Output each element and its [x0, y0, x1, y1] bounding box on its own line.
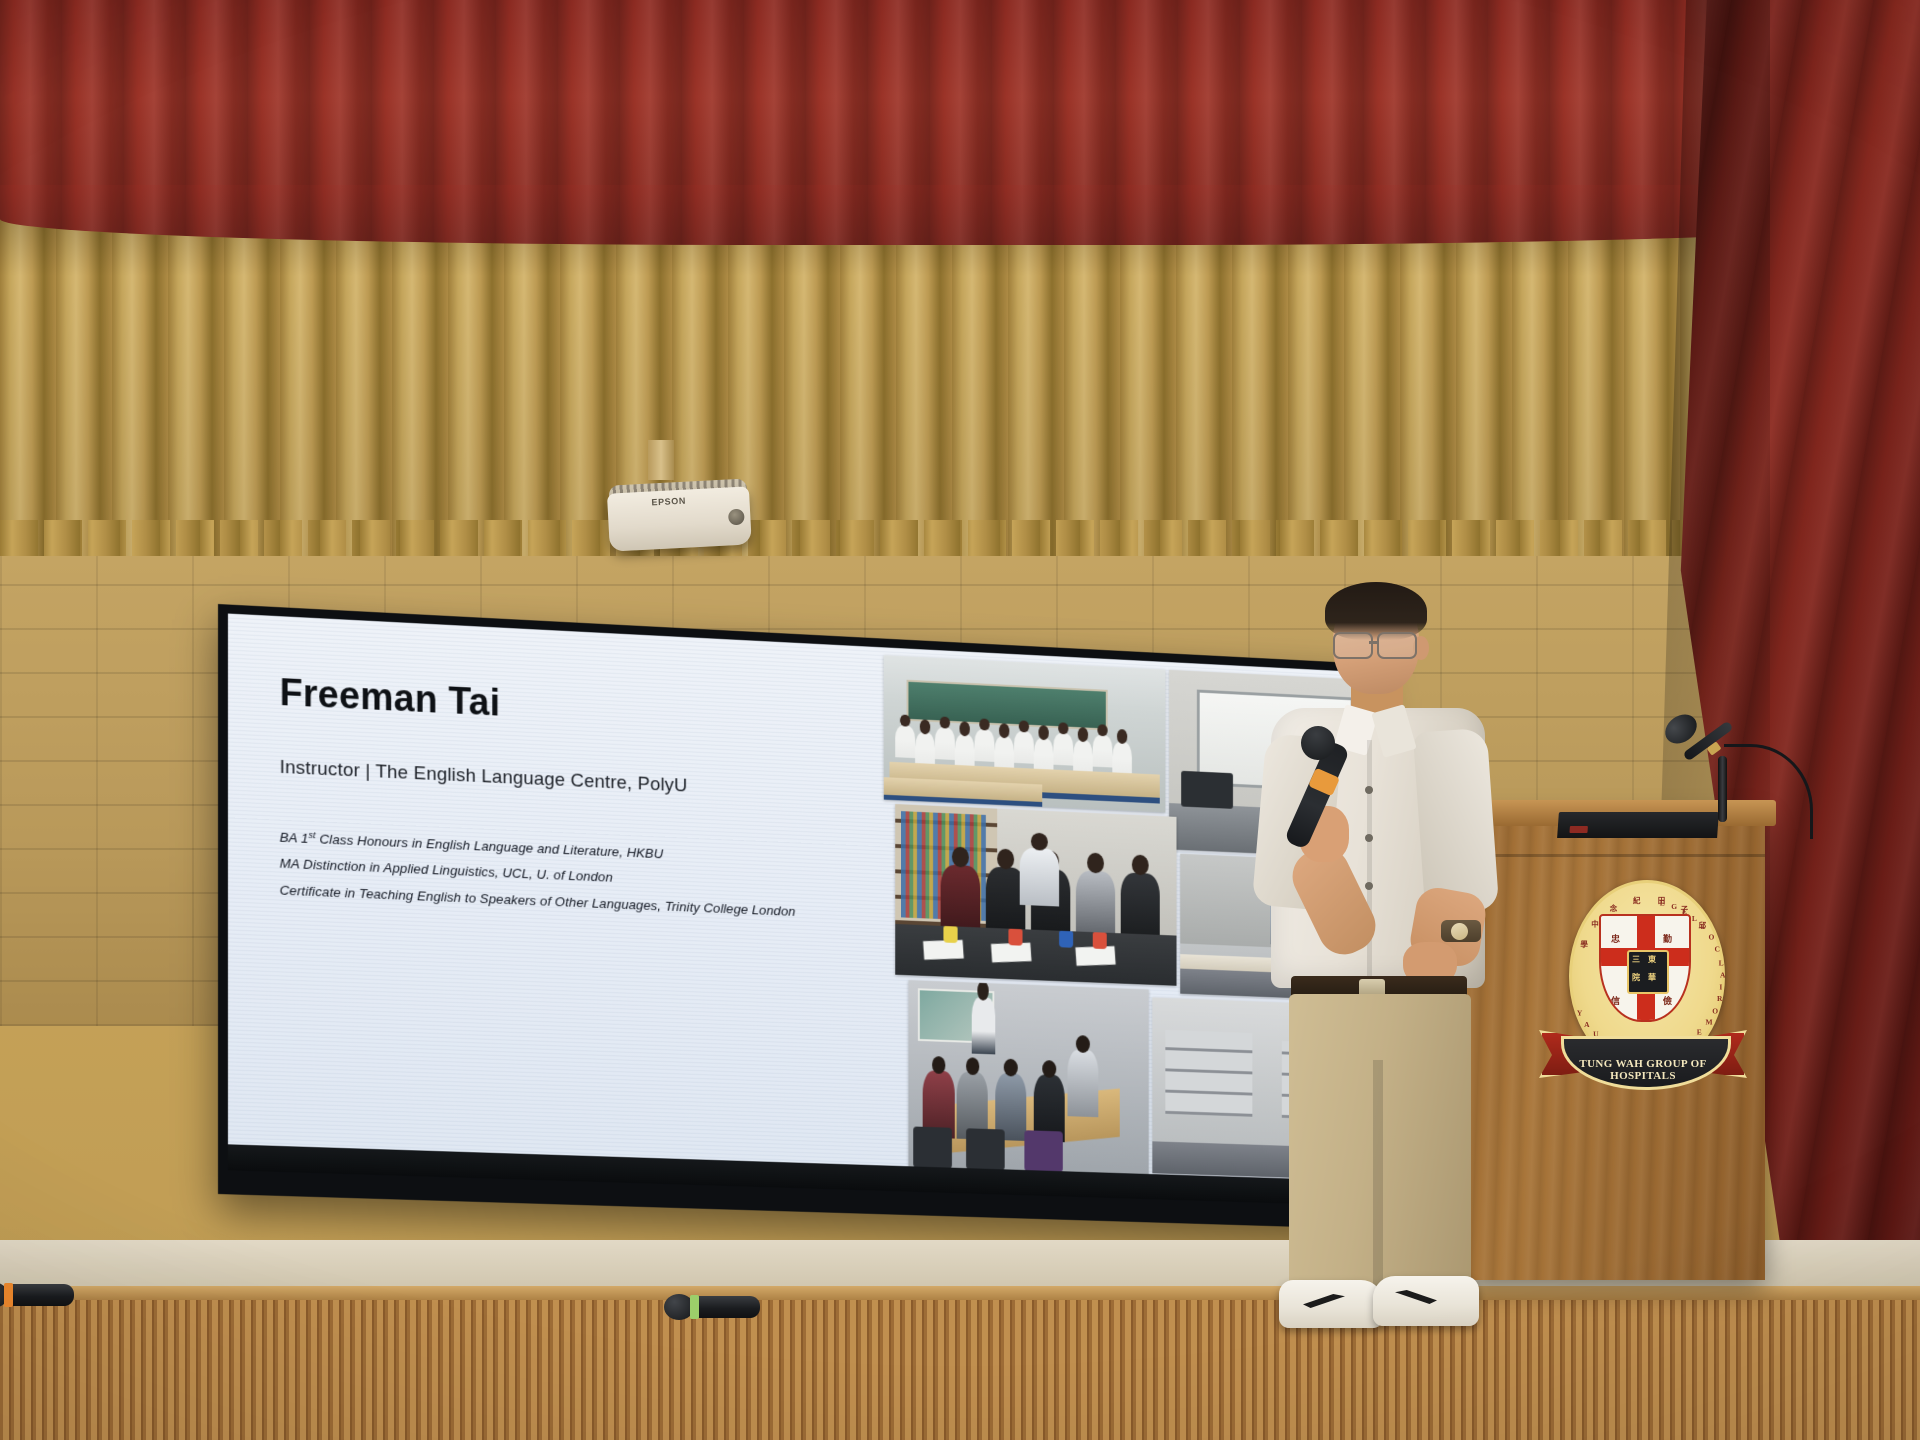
- microphone-color-band: [690, 1295, 699, 1319]
- college-crest: 學 中 念 紀 田 子 邱 Y A U T Z E T I N M E M O …: [1543, 880, 1743, 1130]
- student-figure: [935, 727, 955, 760]
- crest-char-qin: 勤: [1663, 932, 1672, 945]
- student-figure: [895, 725, 915, 758]
- eyeglass-lens-left: [1333, 632, 1373, 659]
- plastic-cup: [1008, 928, 1022, 946]
- student-figure: [1053, 733, 1073, 765]
- shirt-button: [1365, 882, 1373, 890]
- plastic-cup: [943, 925, 957, 943]
- eyeglasses-icon: [1331, 632, 1423, 656]
- crest-char-jian: 儉: [1663, 994, 1672, 1007]
- student-figure: [941, 864, 981, 934]
- classroom-group-photo: [884, 655, 1166, 812]
- student-figure: [1020, 847, 1059, 906]
- paper-sheet: [923, 940, 964, 960]
- crest-shield: 忠 勤 信 儉 三 東 院 華: [1599, 914, 1691, 1022]
- wristwatch-face: [1451, 923, 1468, 940]
- crest-char-xin: 信: [1611, 994, 1620, 1007]
- student-figure: [1093, 735, 1113, 767]
- eyeglass-lens-right: [1377, 632, 1417, 659]
- slide-subtitle: Instructor | The English Language Centre…: [280, 757, 843, 805]
- paper-sheet: [1075, 946, 1115, 966]
- slide-text-block: Freeman Tai Instructor | The English Lan…: [280, 672, 843, 927]
- equipment-box: [1181, 771, 1233, 809]
- presenter-person: [1255, 590, 1485, 1330]
- valance-hem: [0, 185, 1920, 245]
- laptop[interactable]: [1557, 812, 1719, 838]
- slide-credentials: BA 1st Class Honours in English Language…: [280, 825, 843, 927]
- lectern-panel-seam: [1465, 854, 1765, 857]
- auditorium-stage-photo: EPSON Freeman Tai Instructor | The Engli…: [0, 0, 1920, 1440]
- microphone-color-band: [4, 1283, 13, 1307]
- plastic-cup: [1093, 932, 1107, 950]
- stage-apron-slats: [0, 1300, 1920, 1440]
- crest-char-yuan: 院: [1632, 972, 1640, 983]
- credential-1-pre: BA 1: [280, 830, 309, 846]
- red-velvet-valance: [0, 0, 1920, 215]
- laptop-logo-icon: [1569, 826, 1587, 833]
- paper-sheet: [991, 943, 1032, 963]
- shirt-button: [1365, 786, 1373, 794]
- shirt-button: [1365, 834, 1373, 842]
- crest-char-zhong: 忠: [1611, 932, 1620, 945]
- projector-lens-icon: [728, 509, 745, 526]
- student-figure: [975, 729, 995, 762]
- student-figure: [1076, 870, 1115, 939]
- trouser-leg-separation: [1373, 1060, 1383, 1296]
- crest-char-hua: 華: [1648, 972, 1656, 983]
- presenter-shoe-left: [1279, 1280, 1383, 1328]
- projector-brand-label: EPSON: [651, 496, 686, 508]
- crest-inner-badge: 三 東 院 華: [1627, 950, 1669, 994]
- crest-banner: TUNG WAH GROUP OF HOSPITALS: [1543, 1022, 1743, 1100]
- lectern-microphone-stem: [1718, 756, 1727, 822]
- banner-text: TUNG WAH GROUP OF HOSPITALS: [1567, 1058, 1719, 1082]
- crest-char-dong: 東: [1648, 954, 1656, 965]
- student-figure: [1121, 872, 1160, 941]
- slide-title: Freeman Tai: [280, 672, 843, 742]
- presenter-right-sleeve: [1413, 728, 1500, 915]
- projector: EPSON: [606, 470, 752, 553]
- library-study-group-photo: [895, 804, 1176, 986]
- plastic-cup: [1059, 930, 1073, 948]
- crest-char-san: 三: [1632, 954, 1640, 965]
- student-figure: [1014, 731, 1034, 764]
- eyeglass-bridge: [1369, 641, 1379, 644]
